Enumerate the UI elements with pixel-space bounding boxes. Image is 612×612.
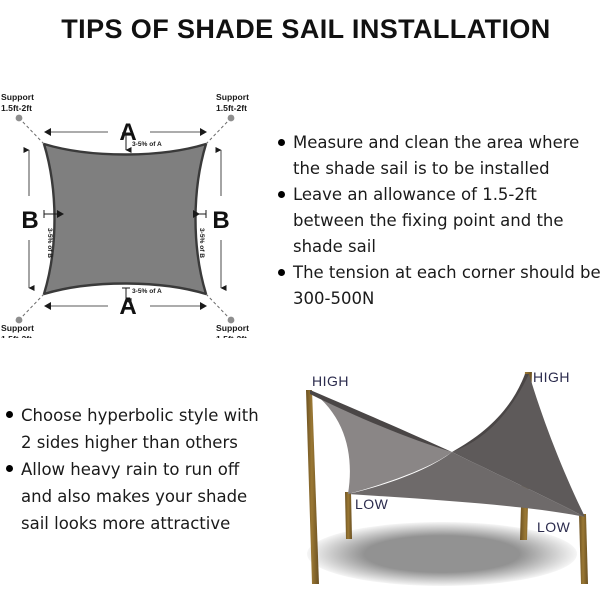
label-high-right: HIGH xyxy=(533,372,570,385)
tip-text: Measure and clean the area where the sha… xyxy=(293,130,608,182)
tip-text: The tension at each corner should be 300… xyxy=(293,260,608,312)
svg-text:3-5% of A: 3-5% of A xyxy=(132,288,162,295)
bullet-icon xyxy=(278,139,285,146)
page-title: TIPS OF SHADE SAIL INSTALLATION xyxy=(0,14,612,45)
svg-text:B: B xyxy=(212,207,229,234)
tips-list-left: Choose hyperbolic style with 2 sides hig… xyxy=(6,402,268,537)
svg-text:A: A xyxy=(119,293,136,320)
svg-text:Support: Support xyxy=(216,92,249,102)
list-item: Leave an allowance of 1.5-2ft between th… xyxy=(278,182,608,260)
svg-text:Support: Support xyxy=(216,323,249,333)
label-low-right: LOW xyxy=(537,519,571,535)
tips-list-right: Measure and clean the area where the sha… xyxy=(278,130,608,312)
svg-text:3-5% of B: 3-5% of B xyxy=(198,228,205,258)
list-item: Choose hyperbolic style with 2 sides hig… xyxy=(6,402,268,456)
label-high-left: HIGH xyxy=(312,373,349,389)
sail-diagram-svg: Support 1.5ft-2ft Support 1.5ft-2ft Supp… xyxy=(0,88,276,338)
shade-sail-shape xyxy=(44,144,206,294)
label-low-left: LOW xyxy=(355,496,389,512)
svg-text:Support: Support xyxy=(1,92,34,102)
bullet-icon xyxy=(6,411,13,418)
svg-text:Support: Support xyxy=(1,323,34,333)
list-item: Allow heavy rain to run off and also mak… xyxy=(6,456,268,537)
infographic-page: TIPS OF SHADE SAIL INSTALLATION xyxy=(0,0,612,612)
support-label-bottom-right: Support 1.5ft-2ft xyxy=(216,323,249,338)
tip-text: Leave an allowance of 1.5-2ft between th… xyxy=(293,182,608,260)
list-item: The tension at each corner should be 300… xyxy=(278,260,608,312)
dimension-b-left: B xyxy=(21,150,38,288)
hyperbolic-sail-diagram: HIGH HIGH LOW LOW xyxy=(292,372,612,612)
sail-dimension-diagram: Support 1.5ft-2ft Support 1.5ft-2ft Supp… xyxy=(0,88,276,338)
svg-text:1.5ft-2ft: 1.5ft-2ft xyxy=(216,334,247,338)
svg-text:B: B xyxy=(21,207,38,234)
list-item: Measure and clean the area where the sha… xyxy=(278,130,608,182)
post-right-low xyxy=(579,514,588,584)
support-label-top-left: Support 1.5ft-2ft xyxy=(1,92,34,113)
tip-text: Choose hyperbolic style with 2 sides hig… xyxy=(21,402,268,456)
svg-text:1.5ft-2ft: 1.5ft-2ft xyxy=(1,103,32,113)
tip-text: Allow heavy rain to run off and also mak… xyxy=(21,456,268,537)
dimension-b-right: B xyxy=(212,150,229,288)
bullet-icon xyxy=(6,465,13,472)
bullet-icon xyxy=(278,269,285,276)
bullet-icon xyxy=(278,191,285,198)
svg-text:3-5% of B: 3-5% of B xyxy=(46,228,53,258)
svg-text:1.5ft-2ft: 1.5ft-2ft xyxy=(216,103,247,113)
hyperbolic-diagram-svg: HIGH HIGH LOW LOW xyxy=(292,372,612,612)
support-label-bottom-left: Support 1.5ft-2ft xyxy=(1,323,34,338)
svg-text:3-5% of A: 3-5% of A xyxy=(132,141,162,148)
support-label-top-right: Support 1.5ft-2ft xyxy=(216,92,249,113)
post-left-low xyxy=(345,492,352,539)
svg-text:1.5ft-2ft: 1.5ft-2ft xyxy=(1,334,32,338)
